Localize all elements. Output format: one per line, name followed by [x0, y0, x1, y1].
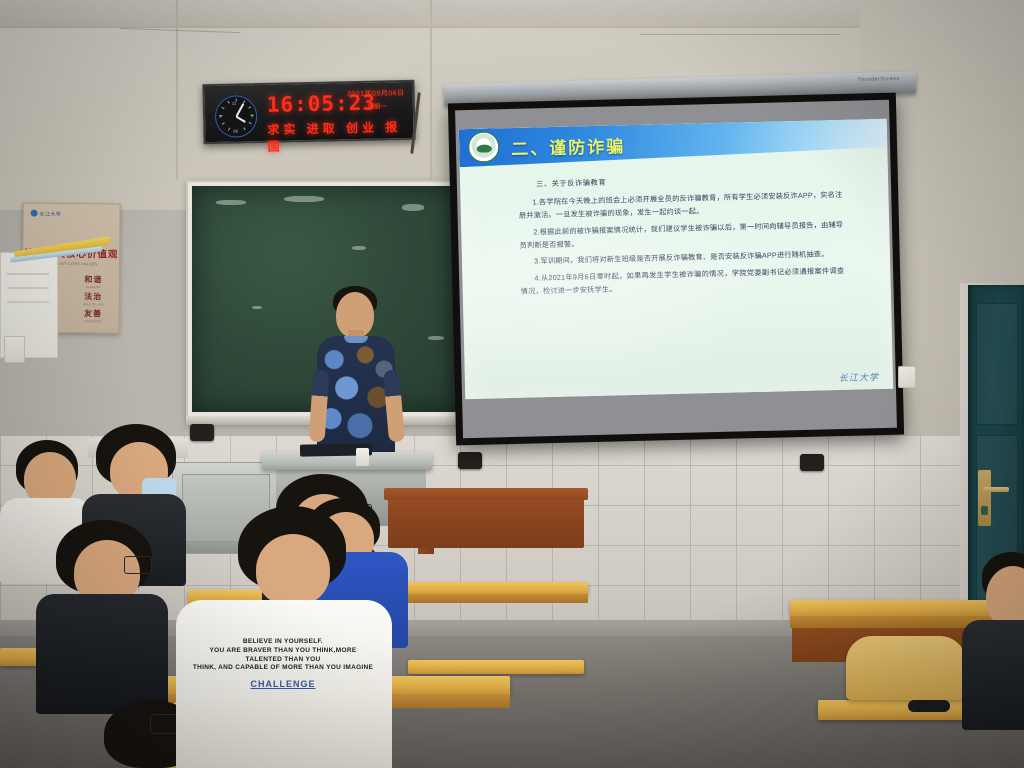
- tshirt-line-1: BELIEVE IN YOURSELF.: [190, 638, 376, 647]
- light-switch[interactable]: [4, 336, 25, 363]
- poster-institution-label: 长江大学: [31, 210, 62, 218]
- led-weekday-readout: 星期一: [367, 100, 387, 110]
- slide-paragraph-4: 4.从2021年9月6日零时起，如果再发生学生被诈骗的情况，学院党委副书记必须通…: [520, 263, 845, 298]
- poster-logo-icon: [31, 210, 38, 217]
- wall-seam-vertical: [430, 0, 432, 200]
- analog-clock-face: 12 3 6 9: [215, 95, 258, 138]
- slide-title-text: 二、谨防诈骗: [511, 132, 626, 160]
- led-date-readout: 2021年09月06日: [347, 88, 405, 99]
- wall-speaker-center: [458, 452, 482, 469]
- wall-crack-2: [640, 34, 840, 35]
- clock-hour-hand: [236, 116, 246, 123]
- door-lock-icon[interactable]: [981, 506, 988, 515]
- screen-brand-label: ThunderScreen: [857, 76, 899, 83]
- slide-body: 三、关于反诈骗教育 1.各学院在今天晚上的班会上必须开展全员的反诈骗教育，所有学…: [460, 157, 891, 300]
- presentation-slide: 二、谨防诈骗 三、关于反诈骗教育 1.各学院在今天晚上的班会上必须开展全员的反诈…: [459, 119, 893, 399]
- wall-speaker-left: [190, 424, 214, 441]
- tshirt-brand-text: CHALLENGE: [190, 678, 376, 690]
- poster-value-item: 友善FRIENDSHIP: [73, 308, 112, 323]
- led-motto-text: 求实 进取 创业 报国: [267, 118, 414, 155]
- tshirt-print: BELIEVE IN YOURSELF. YOU ARE BRAVER THAN…: [190, 638, 376, 690]
- university-emblem-icon: [468, 131, 500, 163]
- desk-row-2-surface: [408, 660, 584, 674]
- chair-right[interactable]: [846, 636, 966, 700]
- desk-row-back: [388, 492, 584, 548]
- tshirt-line-2: YOU ARE BRAVER THAN YOU THINK,MORE: [190, 647, 376, 656]
- classroom-photo: 12 3 6 9 16:05:23 2021年09月06日 星期一 求实 进取 …: [0, 0, 1024, 768]
- wristwatch: [908, 700, 950, 712]
- paper-cup: [356, 448, 369, 466]
- poster-value-item: 法治RULE OF LAW: [74, 291, 113, 306]
- slide-heading-text: 三、关于反诈骗教育: [536, 172, 842, 189]
- desk-row-1-edge: [398, 594, 588, 603]
- clock-numeral-6: 6: [233, 129, 235, 134]
- clock-numeral-12: 12: [232, 101, 237, 106]
- led-clock-display: 12 3 6 9 16:05:23 2021年09月06日 星期一 求实 进取 …: [202, 80, 415, 144]
- tshirt-line-3: TALENTED THAN YOU: [190, 656, 376, 665]
- slide-watermark-text: 长江大学: [839, 370, 879, 384]
- slide-paragraph-2: 2.根据此前的被诈骗报案情况统计，我们建议学生被诈骗以后，第一时间向辅导员报告，…: [519, 218, 844, 253]
- presenter-collar: [344, 336, 368, 343]
- clock-minute-hand: [235, 103, 244, 117]
- slide-paragraph-1: 1.各学院在今天晚上的班会上必须开展全员的反诈骗教育，所有学生必须安装反诈APP…: [518, 188, 843, 223]
- clock-numeral-3: 3: [251, 113, 253, 118]
- wall-seam-vertical-2: [176, 0, 178, 180]
- clock-numeral-9: 9: [219, 114, 221, 119]
- door-panel-upper: [976, 303, 1018, 425]
- tshirt-line-4: THINK, AND CAPABLE OF MORE THAN YOU IMAG…: [190, 664, 376, 673]
- wall-speaker-right: [800, 454, 824, 471]
- presenter-shirt: [317, 336, 395, 454]
- door-handle[interactable]: [983, 487, 1009, 492]
- desk-row-back-top: [384, 488, 588, 500]
- door-handle-plate: [978, 470, 991, 526]
- poster-value-item: 和谐HARMONY: [74, 274, 113, 289]
- power-outlet[interactable]: [898, 366, 916, 388]
